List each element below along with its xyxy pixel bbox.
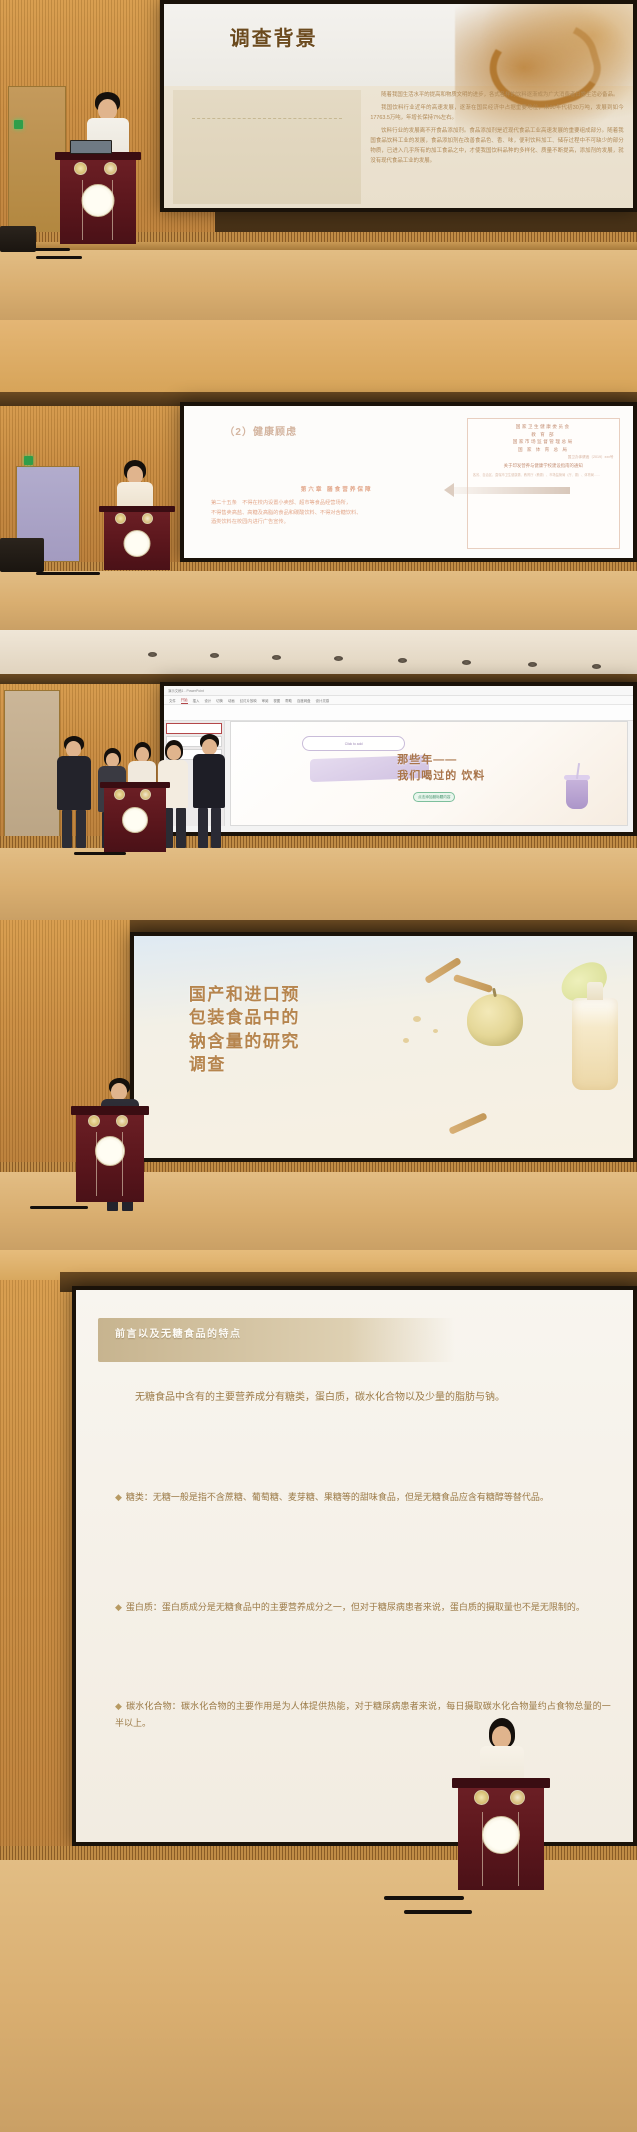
project-title-line-4: 调查 [189, 1053, 429, 1076]
slide-project-title: 国产和进口预 包装食品中的 钠含量的研究 调查 [134, 936, 633, 1158]
panel-5-sugar-free-characteristics: 前言以及无糖食品的特点 无糖食品中含有的主要营养成分有糖类，蛋白质，碳水化合物以… [0, 1250, 637, 2132]
bullet-marker-3: ◆ [115, 1701, 122, 1711]
ppt-heading-text[interactable]: 那些年—— 我们喝过的 饮料 [397, 753, 485, 785]
project-title-line-2: 包装食品中的 [189, 1006, 429, 1029]
floor-cable-5 [30, 1206, 88, 1209]
podium-4-stripe-right [122, 1132, 123, 1196]
team-member-4-head [167, 745, 181, 760]
ppt-subtitle-button[interactable]: 点击添加副标题内容 [413, 792, 455, 802]
slide-sugar-free-characteristics: 前言以及无糖食品的特点 无糖食品中含有的主要营养成分有糖类，蛋白质，碳水化合物以… [76, 1290, 633, 1842]
ppt-tab-file[interactable]: 文件 [169, 698, 176, 703]
ceiling-light-1 [148, 652, 157, 657]
university-seal-icon-5 [482, 1816, 520, 1854]
photo-collage: 调查背景 随着我国生活水平的提高和物质文明的进步，各式各样的饮料逐渐成为广大消费… [0, 0, 637, 2132]
bullet-term-2: 蛋白质： [126, 1602, 162, 1612]
project-title-line-3: 钠含量的研究 [189, 1030, 429, 1053]
podium-stripe-right [112, 180, 113, 240]
lecture-hall-scene-4: 国产和进口预 包装食品中的 钠含量的研究 调查 [0, 920, 637, 1250]
lecture-hall-scene-3: 演示文稿1 - PowerPoint 文件 开始 插入 设计 切换 动画 幻灯片… [0, 630, 637, 920]
team-member-1-leg-left [62, 810, 72, 848]
floor-cable-2 [36, 256, 82, 259]
team-member-5-leg-right [211, 808, 221, 848]
bullet-text-2: 蛋白质成分是无糖食品中的主要营养成分之一，但对于糖尿病患者来说，蛋白质的摄取量也… [162, 1602, 585, 1612]
bullet-carbohydrates: ◆碳水化合物：碳水化合物的主要作用是为人体提供热能，对于糖尿病患者来说，每日摄取… [115, 1698, 611, 1730]
doc-body-preview: 各省、自治区、直辖市卫生健康委、教育厅（教委）、市场监管局（厅、委）、体育局…… [473, 473, 614, 479]
apple-graphic [467, 994, 523, 1046]
lecture-hall-scene-5: 前言以及无糖食品的特点 无糖食品中含有的主要营养成分有糖类，蛋白质，碳水化合物以… [0, 1250, 637, 2132]
project-title-line-1: 国产和进口预 [189, 983, 429, 1006]
bullet-text-1: 无糖一般是指不含蔗糖、葡萄糖、麦芽糖、果糖等的甜味食品，但是无糖食品应含有糖醇等… [153, 1492, 549, 1502]
ceiling-light-5 [398, 658, 407, 663]
presenter-4-head [111, 1083, 127, 1100]
ppt-placeholder-callout[interactable]: Click to add [302, 736, 405, 750]
ppt-ribbon-tabs: 文件 开始 插入 设计 切换 动画 幻灯片放映 审阅 视图 帮助 百度网盘 设计… [164, 696, 633, 705]
slide-left-block [173, 90, 361, 204]
slide-health-concerns: （2）健康顾虑 国家卫生健康委员会 教 育 部 国家市场监督管理总局 国 家 体… [184, 406, 633, 558]
university-seal-icon-4 [95, 1136, 125, 1166]
doc-issuer-1: 国家卫生健康委员会 [473, 423, 614, 431]
regulation-line-1: 第二十五条 不得在校内设置小卖部、超市等食品经营场所， [211, 499, 462, 509]
bullet-term-3: 碳水化合物： [126, 1701, 181, 1711]
ceiling-light-2 [210, 653, 219, 658]
cinnamon-stick-3 [449, 1112, 488, 1135]
bullet-marker-2: ◆ [115, 1602, 122, 1612]
podium-3-emblem-left-icon [114, 789, 125, 800]
ppt-tab-design[interactable]: 设计 [204, 698, 211, 703]
bullet-term-1: 糖类： [126, 1492, 153, 1502]
podium-4-stripe-left [96, 1132, 97, 1196]
stage-floor-2 [0, 571, 637, 630]
podium-4-emblem-left-icon [88, 1115, 100, 1127]
team-member-1-torso [57, 756, 91, 810]
panel-4-project-title: 国产和进口预 包装食品中的 钠含量的研究 调查 [0, 920, 637, 1250]
slide-paragraph-1: 随着我国生活水平的提高和物质文明的进步，各式各样的饮料逐渐成为广大消费者日常生活… [370, 90, 623, 100]
bullet-text-3: 碳水化合物的主要作用是为人体提供热能，对于糖尿病患者来说，每日摄取碳水化合物量约… [115, 1701, 611, 1727]
team-member-5-leg-left [198, 808, 208, 848]
slide-5-lead-paragraph: 无糖食品中含有的主要营养成分有糖类，蛋白质，碳水化合物以及少量的脂肪与钠。 [115, 1389, 605, 1407]
crumb-2 [433, 1029, 438, 1033]
ppt-tab-baidu[interactable]: 百度网盘 [297, 698, 311, 703]
bullet-carbohydrate-sugars: ◆糖类：无糖一般是指不含蔗糖、葡萄糖、麦芽糖、果糖等的甜味食品，但是无糖食品应含… [115, 1489, 611, 1505]
doc-issuer-3: 国家市场监督管理总局 [473, 438, 614, 446]
podium-4-emblem-right-icon [116, 1115, 128, 1127]
podium-emblem-right-icon [104, 162, 117, 175]
project-title: 国产和进口预 包装食品中的 钠含量的研究 调查 [189, 983, 429, 1077]
ceiling-light-8 [592, 664, 601, 669]
team-member-5 [190, 734, 228, 848]
regulation-excerpt: 第六章 膳食营养保障 第二十五条 不得在校内设置小卖部、超市等食品经营场所， 不… [211, 485, 462, 528]
slide-title: 调查背景 [230, 22, 318, 51]
ceiling-soffit [0, 320, 637, 392]
team-member-3-head [136, 747, 149, 762]
doc-issuer-4: 国 家 体 育 总 局 [473, 446, 614, 454]
cinnamon-stick-2 [453, 974, 493, 993]
ceiling-light-6 [462, 660, 471, 665]
team-member-1-leg-right [76, 810, 86, 848]
slide-title-2: （2）健康顾虑 [224, 423, 297, 438]
wall-baseboard-2 [0, 562, 637, 571]
podium-5-stripe-right [518, 1812, 519, 1886]
team-member-1-head [66, 741, 81, 757]
ppt-tab-home[interactable]: 开始 [181, 697, 188, 704]
ppt-tab-view[interactable]: 视图 [273, 698, 280, 703]
panel-3-team-group: 演示文稿1 - PowerPoint 文件 开始 插入 设计 切换 动画 幻灯片… [0, 630, 637, 920]
ppt-tab-designer[interactable]: 设计灵感 [316, 698, 330, 703]
ppt-tab-review[interactable]: 审阅 [262, 698, 269, 703]
podium-2-emblem-right-icon [142, 513, 153, 524]
regulation-line-2: 不得售卖高盐、高糖及高脂的食品和碳酸饮料、不得对含糖饮料、 [211, 509, 462, 519]
slide-paragraph-2: 我国饮料行业近年的高速发展，逐渐在国民经济中占据重要地位，从90年代初30万吨，… [370, 103, 623, 123]
doc-issuer-2: 教 育 部 [473, 431, 614, 439]
exit-sign-icon-2 [24, 456, 33, 465]
podium-4 [76, 1106, 144, 1202]
podium-5-stripe-left [482, 1812, 483, 1886]
bullet-protein: ◆蛋白质：蛋白质成分是无糖食品中的主要营养成分之一，但对于糖尿病患者来说，蛋白质… [115, 1599, 611, 1615]
regulation-line-3: 酒类饮料在校园内进行广告宣传。 [211, 518, 462, 528]
projection-screen-4: 国产和进口预 包装食品中的 钠含量的研究 调查 [130, 932, 637, 1162]
podium-5-emblem-left-icon [474, 1790, 489, 1805]
powerpoint-editor: 演示文稿1 - PowerPoint 文件 开始 插入 设计 切换 动画 幻灯片… [164, 686, 633, 832]
milk-bottle-graphic [572, 998, 618, 1090]
floor-speaker-2 [0, 538, 44, 572]
team-member-5-torso [193, 754, 225, 808]
team-member-1 [54, 736, 94, 848]
slide-body-text: 随着我国生活水平的提高和物质文明的进步，各式各样的饮料逐渐成为广大消费者日常生活… [370, 90, 623, 204]
projection-screen-3: 演示文稿1 - PowerPoint 文件 开始 插入 设计 切换 动画 幻灯片… [160, 682, 637, 836]
ppt-title-bar: 演示文稿1 - PowerPoint [164, 686, 633, 696]
drink-cup-graphic [566, 779, 588, 809]
panel-1-presentation-background: 调查背景 随着我国生活水平的提高和物质文明的进步，各式各样的饮料逐渐成为广大消费… [0, 0, 637, 320]
university-seal-icon-2 [124, 530, 151, 557]
projection-screen-5: 前言以及无糖食品的特点 无糖食品中含有的主要营养成分有糖类，蛋白质，碳水化合物以… [72, 1286, 637, 1846]
podium-2-emblem-left-icon [115, 513, 126, 524]
doc-title: 关于印发营养与健康学校建设指南的通知 [473, 463, 614, 470]
projection-screen: 调查背景 随着我国生活水平的提高和物质文明的进步，各式各样的饮料逐渐成为广大消费… [160, 0, 637, 212]
ceiling-light-4 [334, 656, 343, 661]
floor-cable-4 [74, 852, 126, 855]
side-door-3 [4, 690, 60, 840]
ppt-ribbon-toolbar[interactable] [164, 705, 633, 721]
ppt-tab-slideshow[interactable]: 幻灯片放映 [240, 698, 257, 703]
podium-5 [458, 1778, 544, 1890]
ppt-thumbnail-1[interactable] [166, 723, 222, 734]
slide-paragraph-3: 饮料行业的发展离不开食品添加剂。食品添加剂是近现代食品工业高速发展的重要组成部分… [370, 126, 623, 166]
ppt-tab-transitions[interactable]: 切换 [216, 698, 223, 703]
lecture-hall-scene-2: （2）健康顾虑 国家卫生健康委员会 教 育 部 国家市场监督管理总局 国 家 体… [0, 320, 637, 630]
regulation-heading: 第六章 膳食营养保障 [211, 485, 462, 496]
ppt-tab-insert[interactable]: 插入 [193, 698, 200, 703]
podium-2 [104, 506, 170, 570]
podium-3-emblem-right-icon [140, 789, 151, 800]
team-member-4-leg-right [176, 808, 186, 848]
ppt-slide-canvas[interactable]: Click to add 那些年—— 我们喝过的 饮料 点击添加副标题内容 [230, 721, 629, 826]
panel-2-health-concerns: （2）健康顾虑 国家卫生健康委员会 教 育 部 国家市场监督管理总局 国 家 体… [0, 320, 637, 630]
projection-screen-2: （2）健康顾虑 国家卫生健康委员会 教 育 部 国家市场监督管理总局 国 家 体… [180, 402, 637, 562]
exit-sign-icon [14, 120, 23, 129]
floor-cable-7 [404, 1910, 472, 1914]
podium-3 [104, 782, 166, 852]
presenter-laptop [70, 140, 112, 154]
podium-5-emblem-right-icon [510, 1790, 525, 1805]
floor-cable-3 [36, 572, 100, 575]
floor-cable-6 [384, 1896, 464, 1900]
ppt-tab-animations[interactable]: 动画 [228, 698, 235, 703]
presenter-5-head [492, 1726, 511, 1748]
university-seal-icon-3 [122, 807, 148, 833]
team-member-5-head [202, 739, 217, 755]
ppt-tab-help[interactable]: 帮助 [285, 698, 292, 703]
doc-number: 国卫办体健函〔2019〕xxx号 [473, 455, 614, 460]
podium-stripe-left [82, 180, 83, 240]
podium-emblem-left-icon [74, 162, 87, 175]
ceiling-light-7 [528, 662, 537, 667]
policy-document-card: 国家卫生健康委员会 教 育 部 国家市场监督管理总局 国 家 体 育 总 局 国… [467, 418, 620, 549]
ceiling-light-3 [272, 655, 281, 660]
bullet-marker-1: ◆ [115, 1492, 122, 1502]
stage-floor-3 [0, 848, 637, 920]
ppt-title-text: 演示文稿1 - PowerPoint [168, 688, 204, 693]
side-door [8, 86, 66, 236]
stage-floor-5 [0, 1860, 637, 2132]
pointer-arrow-icon [453, 487, 570, 494]
slide-5-title: 前言以及无糖食品的特点 [115, 1325, 242, 1340]
ppt-heading-line-1: 那些年—— [397, 753, 485, 769]
team-member-2-head [106, 753, 119, 767]
university-seal-icon [82, 184, 115, 217]
stage-floor [0, 250, 637, 320]
lecture-hall-scene: 调查背景 随着我国生活水平的提高和物质文明的进步，各式各样的饮料逐渐成为广大消费… [0, 0, 637, 320]
podium [60, 152, 136, 244]
slide-dashed-rule [192, 118, 342, 119]
floor-speaker [0, 226, 36, 252]
ppt-heading-line-2: 我们喝过的 饮料 [397, 769, 485, 785]
presenter-head [98, 99, 117, 120]
slide-survey-background: 调查背景 随着我国生活水平的提高和物质文明的进步，各式各样的饮料逐渐成为广大消费… [164, 4, 633, 208]
